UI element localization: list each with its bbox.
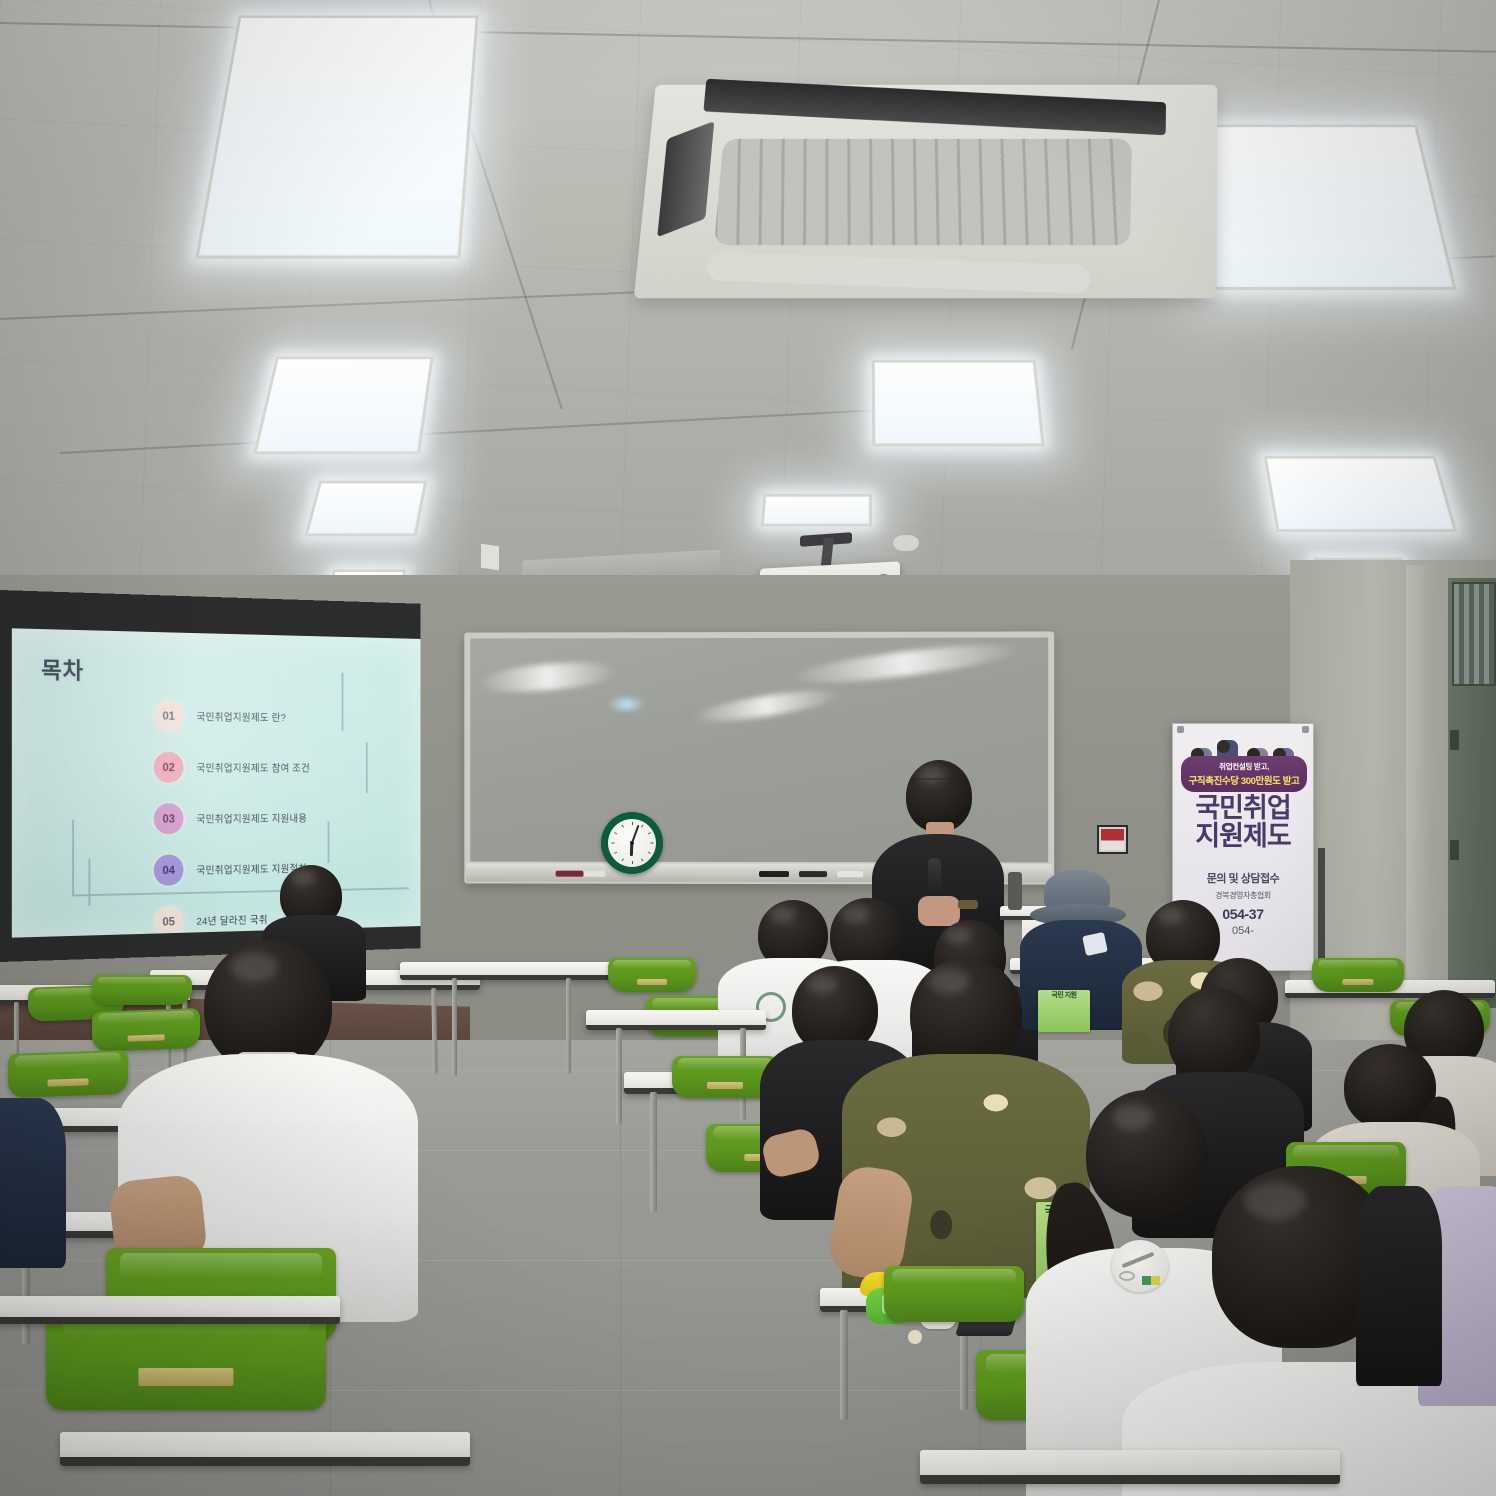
slide-title: 목차 (41, 651, 407, 691)
toc-label: 국민취업지원제도 지원내용 (196, 811, 307, 826)
slide-decoration (366, 742, 367, 793)
toc-label: 국민취업지원제도 란? (196, 709, 286, 724)
banner-stand-pole (1318, 848, 1325, 968)
marker-icon[interactable] (759, 871, 789, 877)
wall-column (1406, 565, 1432, 1025)
wristwatch (958, 900, 978, 909)
desk (586, 1010, 766, 1030)
hair-highlight (768, 905, 796, 923)
slide-decoration (328, 821, 329, 862)
ceiling-light-panel (1264, 456, 1458, 532)
attendee (1356, 1186, 1436, 1366)
hair-highlight (944, 926, 972, 944)
hair-highlight (928, 968, 970, 994)
banner-ribbon-line2: 구직촉진수당 300만원도 받고 (1189, 773, 1300, 787)
toc-item: 02 국민취업지원제도 참여 조건 (154, 752, 407, 783)
whiteboard-glare (477, 658, 618, 696)
wall-clock (601, 812, 663, 874)
desk (0, 1296, 340, 1324)
whiteboard-glare (788, 638, 1020, 690)
chair[interactable] (884, 1266, 1024, 1322)
desk-leg (452, 978, 457, 1076)
clock-center-pin (630, 841, 634, 845)
banner-ribbon: 취업컨설팅 받고, 구직촉진수당 300만원도 받고 (1181, 756, 1307, 792)
air-conditioner-unit (634, 85, 1217, 298)
slide-decoration (72, 819, 73, 896)
toc-number: 03 (154, 803, 184, 834)
clock-face (608, 819, 656, 867)
desk-leg (650, 1092, 657, 1212)
small-item (908, 1330, 922, 1344)
ac-vane-icon (657, 121, 714, 237)
desk (60, 1432, 470, 1466)
ceiling-light-panel (872, 360, 1045, 447)
ac-vane-icon (704, 79, 1167, 136)
marker-icon[interactable] (799, 871, 827, 877)
toc-number: 01 (154, 700, 184, 731)
toc-number: 04 (154, 854, 184, 886)
banner-subtitle: 문의 및 상담접수 (1173, 870, 1313, 886)
attendee (0, 1098, 60, 1258)
banner-clip (1177, 726, 1184, 733)
glasses-icon (911, 778, 965, 791)
toc-label: 국민취업지원제도 참여 조건 (196, 760, 310, 775)
smoke-detector-icon (893, 535, 919, 551)
slide-decoration (342, 673, 343, 731)
door-window (1452, 582, 1496, 686)
hair-highlight (1156, 906, 1184, 924)
hand-fan[interactable] (1112, 1240, 1168, 1292)
banner-title: 국민취업 지원제도 (1173, 794, 1313, 850)
emergency-sign-icon (1097, 825, 1128, 854)
hair-highlight (1112, 1104, 1154, 1130)
hair-highlight (1244, 1182, 1306, 1220)
ceiling-light-panel (1186, 124, 1457, 290)
attendee-torso (1356, 1186, 1442, 1386)
slide-decoration (88, 859, 89, 906)
toc-item: 01 국민취업지원제도 란? (154, 700, 407, 733)
hair-highlight (290, 869, 316, 885)
ceiling-light-panel (304, 481, 427, 537)
banner-title-line2: 지원제도 (1173, 822, 1313, 850)
desk-leg (840, 1310, 848, 1420)
toc-item: 03 국민취업지원제도 지원내용 (154, 802, 407, 834)
attendee-torso (0, 1098, 66, 1268)
attendee-head (1168, 988, 1260, 1084)
marker-icon[interactable] (556, 871, 584, 877)
door-hinge (1450, 840, 1459, 860)
desk-leg (566, 978, 571, 1074)
ceiling-light-panel (253, 357, 433, 455)
motion-sensor-icon (481, 544, 499, 571)
desk-leg (616, 1028, 622, 1124)
marker-icon[interactable] (583, 871, 605, 877)
whiteboard-glare (690, 684, 841, 727)
desk (920, 1450, 1340, 1484)
toc-label: 24년 달라진 국취 (196, 912, 267, 928)
chair[interactable] (8, 1050, 128, 1098)
pole-stand (1008, 872, 1022, 910)
ac-grille (714, 139, 1132, 246)
hair-highlight (230, 952, 278, 982)
chair[interactable] (608, 958, 696, 992)
banner-clip (1302, 726, 1309, 733)
ac-vane-icon (705, 252, 1089, 294)
banner-title-line1: 국민취업 (1173, 794, 1313, 822)
toc-number: 05 (154, 906, 184, 938)
chair[interactable] (1312, 958, 1404, 992)
hair-highlight (840, 904, 870, 923)
classroom-photo: 목차 01 국민취업지원제도 란? 02 국민취업지원제도 참여 조건 03 국… (0, 0, 1496, 1496)
ceiling-light-panel (195, 16, 478, 259)
eraser-icon[interactable] (837, 871, 863, 877)
whiteboard-glare (607, 698, 645, 710)
banner-ribbon-line1: 취업컨설팅 받고, (1219, 761, 1269, 772)
toc-number: 02 (154, 752, 184, 783)
ceiling-light-panel (761, 494, 872, 526)
door-hinge (1450, 730, 1459, 750)
hair-highlight (806, 974, 838, 994)
